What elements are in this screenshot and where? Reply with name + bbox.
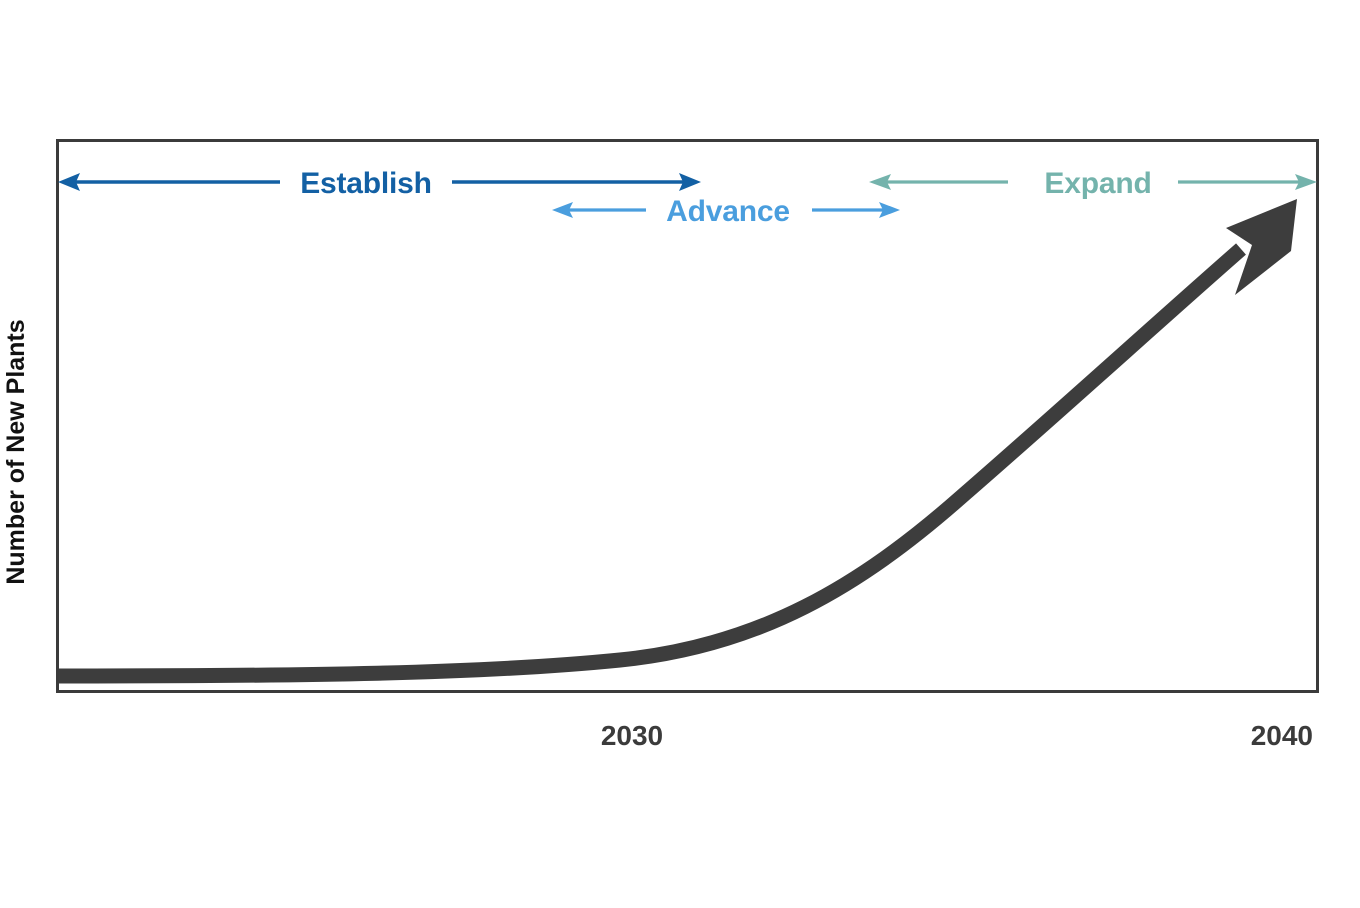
- phase-label-expand: Expand: [1044, 167, 1151, 200]
- chart-figure: Establish Advance Expand 2030 2040 Numbe…: [0, 0, 1360, 908]
- phase-label-advance: Advance: [666, 195, 790, 228]
- growth-curve-chart: Establish Advance Expand 2030 2040 Numbe…: [0, 0, 1360, 908]
- x-tick-label-2040: 2040: [1251, 720, 1313, 751]
- y-axis-label: Number of New Plants: [2, 319, 30, 584]
- phase-label-establish: Establish: [300, 167, 432, 200]
- x-tick-label-2030: 2030: [601, 720, 663, 751]
